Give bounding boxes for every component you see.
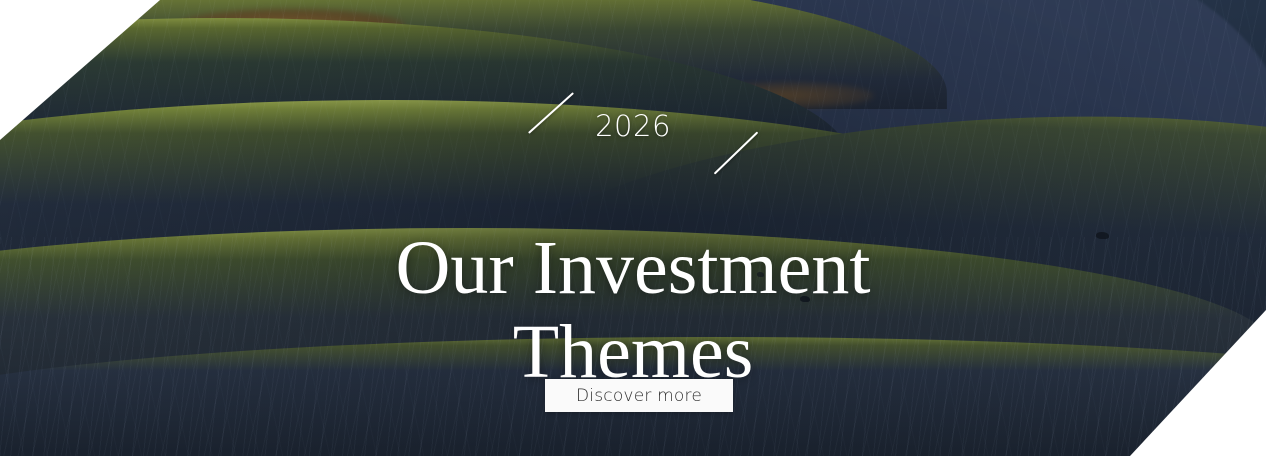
banner-year: 2026 [0,112,1266,141]
banner-image-clip: 2026 Our Investment Themes Discover more [0,0,1266,456]
page-title-line-1: Our Investment [0,227,1266,311]
banner-content: 2026 Our Investment Themes Discover more [0,0,1266,456]
discover-more-button[interactable]: Discover more [545,379,733,412]
page-title: Our Investment Themes [0,227,1266,394]
hero-banner: 2026 Our Investment Themes Discover more [0,0,1280,473]
